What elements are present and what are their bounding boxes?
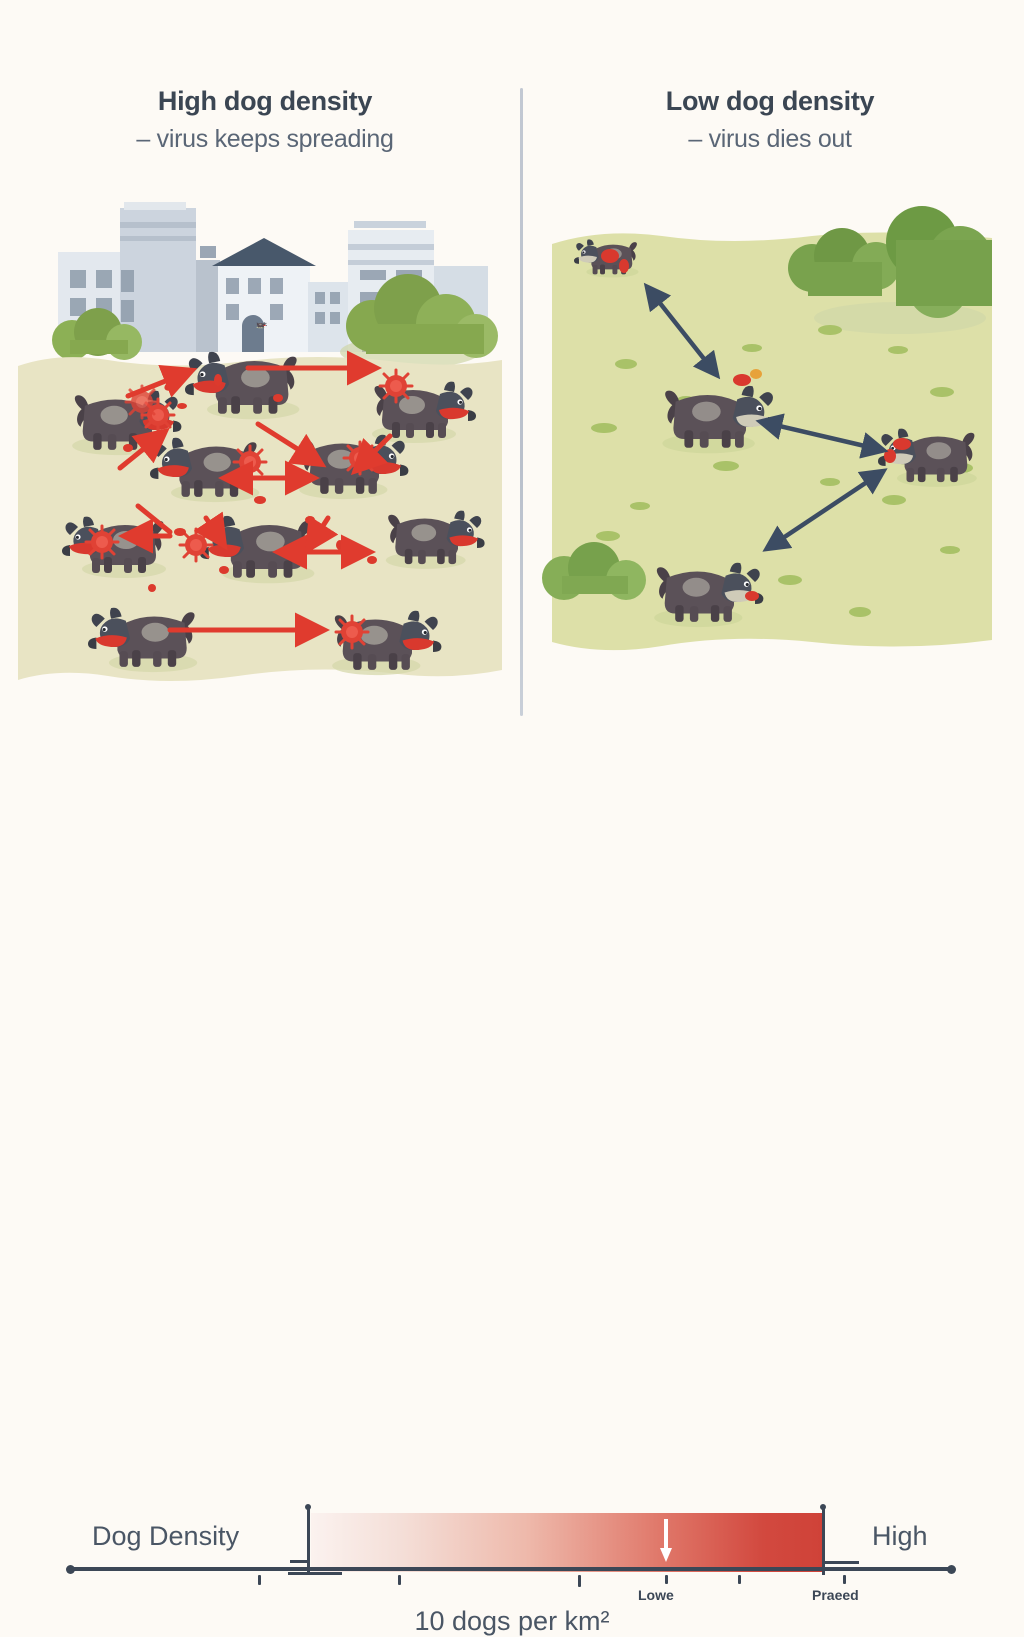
density-scale: Dog Density High Lowe Praeed 10 dogs per… — [0, 742, 1024, 922]
right-panel-heading: Low dog density – virus dies out — [545, 86, 995, 156]
scale-bracket-cap-right — [820, 1504, 826, 1510]
scale-bracket-foot-left-lower — [288, 1572, 342, 1575]
density-gradient-bar[interactable] — [311, 1513, 824, 1572]
tree-cluster-right-top — [788, 206, 992, 334]
scale-tick-label-praeed: Praeed — [812, 1587, 859, 1603]
scale-bracket-foot-right — [823, 1561, 859, 1564]
scale-tick-4 — [665, 1575, 668, 1584]
scale-left-label: Dog Density — [92, 1521, 239, 1552]
scale-axis-line — [70, 1567, 952, 1571]
left-panel-title: High dog density — [40, 86, 490, 117]
scale-bracket-cap-left — [305, 1504, 311, 1510]
scale-tick-1 — [258, 1575, 261, 1585]
scale-tick-6 — [843, 1575, 846, 1584]
scale-tick-2 — [398, 1575, 401, 1585]
scale-bracket-left — [307, 1507, 310, 1575]
left-panel-heading: High dog density – virus keeps spreading — [40, 86, 490, 156]
right-panel-subtitle: – virus dies out — [545, 123, 995, 156]
panel-divider — [520, 88, 523, 716]
scale-bracket-right — [822, 1507, 825, 1575]
scale-bracket-foot-left-upper — [290, 1560, 310, 1563]
threshold-marker-arrow[interactable] — [659, 1519, 673, 1563]
scale-tick-5 — [738, 1575, 741, 1584]
low-density-scene — [530, 200, 1010, 720]
right-panel-title: Low dog density — [545, 86, 995, 117]
scale-caption: 10 dogs per km² — [0, 1606, 1024, 1637]
left-panel-subtitle: – virus keeps spreading — [40, 123, 490, 156]
scale-tick-3 — [578, 1575, 581, 1587]
high-density-scene — [10, 200, 510, 720]
scale-tick-label-lowe: Lowe — [638, 1587, 674, 1603]
infographic-canvas: High dog density – virus keeps spreading… — [0, 0, 1024, 1024]
scale-right-label: High — [872, 1521, 928, 1552]
scale-axis-cap-right — [947, 1565, 956, 1574]
scale-axis-cap-left — [66, 1565, 75, 1574]
